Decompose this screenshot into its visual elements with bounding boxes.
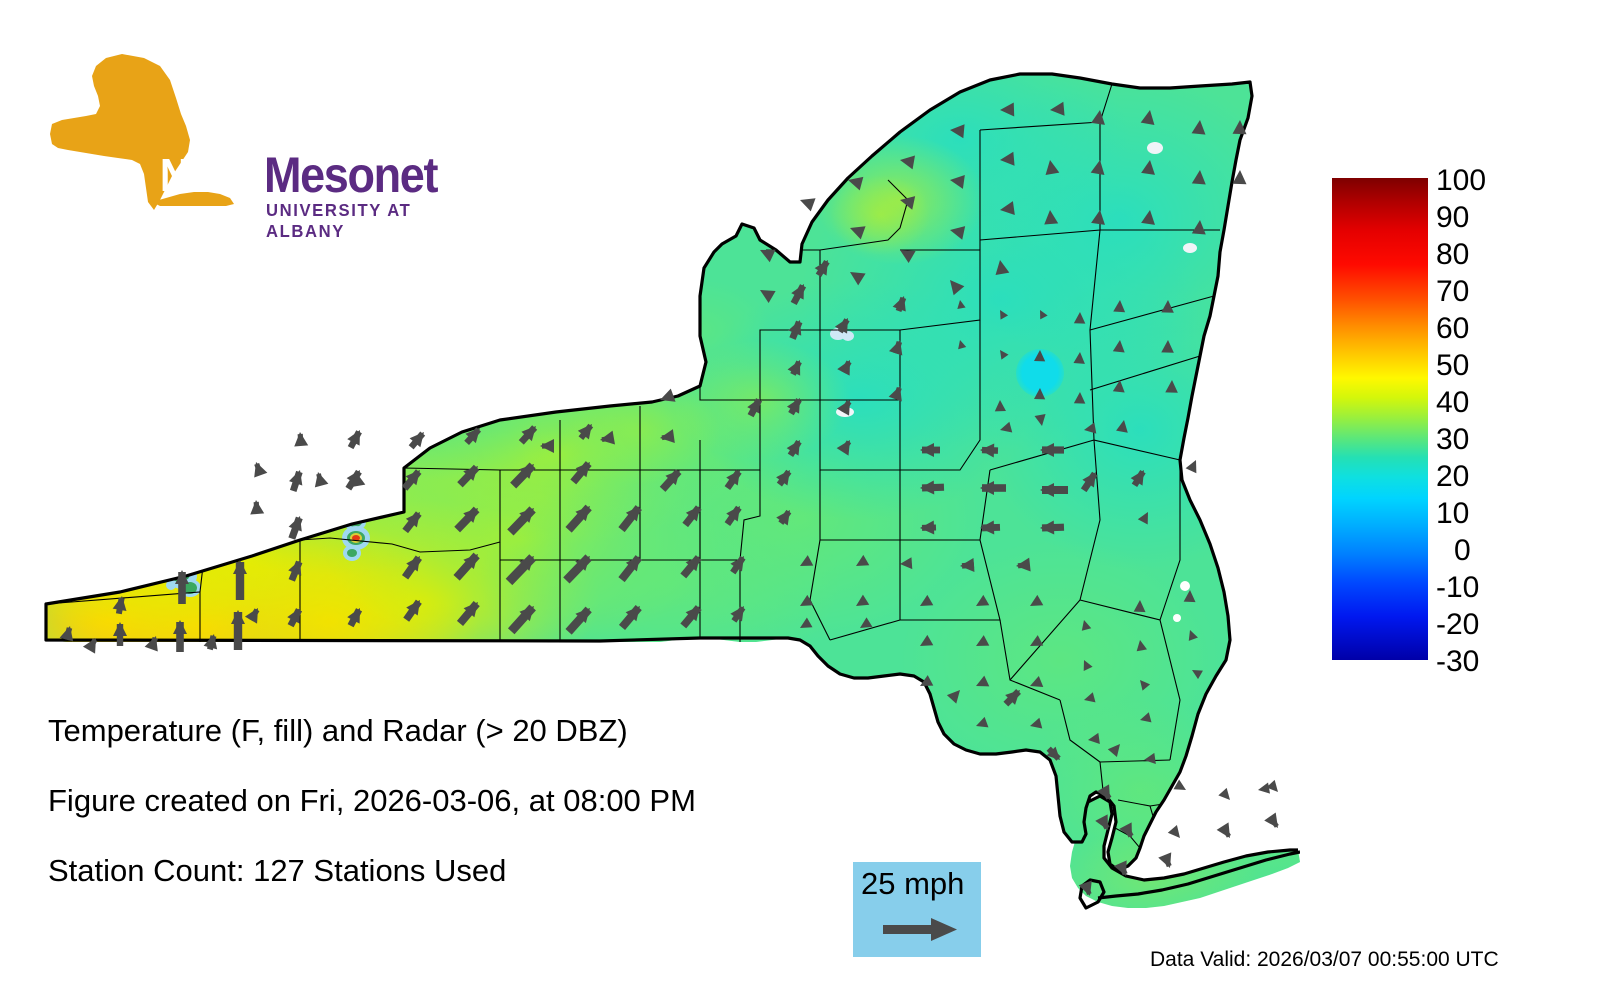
data-valid-timestamp: Data Valid: 2026/03/07 00:55:00 UTC	[1150, 948, 1499, 972]
colorbar-tick-40: 40	[1436, 388, 1580, 418]
right-arrow-icon	[883, 916, 959, 942]
colorbar-tick-100: 100	[1436, 166, 1580, 196]
caption-station-count: Station Count: 127 Stations Used	[48, 855, 828, 886]
caption-title: Temperature (F, fill) and Radar (> 20 DB…	[48, 715, 828, 746]
colorbar-tick-90: 90	[1436, 203, 1580, 233]
colorbar-tick-80: 80	[1436, 240, 1580, 270]
colorbar-tick-neg30: -30	[1436, 647, 1580, 677]
caption-created: Figure created on Fri, 2026-03-06, at 08…	[48, 785, 828, 816]
wind-key-label: 25 mph	[861, 866, 964, 902]
wind-speed-legend: 25 mph	[853, 862, 981, 957]
colorbar-tick-50: 50	[1436, 351, 1580, 381]
colorbar-tick-0: 0	[1454, 536, 1598, 566]
colorbar-tick-neg10: -10	[1436, 573, 1580, 603]
colorbar-tick-20: 20	[1436, 462, 1580, 492]
colorbar-tick-10: 10	[1436, 499, 1580, 529]
colorbar-tick-neg20: -20	[1436, 610, 1580, 640]
temperature-colorbar[interactable]: 100 90 80 70 60 50 40 30 20 10 0 -10 -20…	[1332, 178, 1582, 664]
colorbar-tick-30: 30	[1436, 425, 1580, 455]
figure-caption: Temperature (F, fill) and Radar (> 20 DB…	[48, 715, 828, 925]
colorbar-tick-60: 60	[1436, 314, 1580, 344]
colorbar-tick-70: 70	[1436, 277, 1580, 307]
radar-cell	[320, 491, 376, 516]
colorbar-gradient	[1332, 178, 1428, 660]
